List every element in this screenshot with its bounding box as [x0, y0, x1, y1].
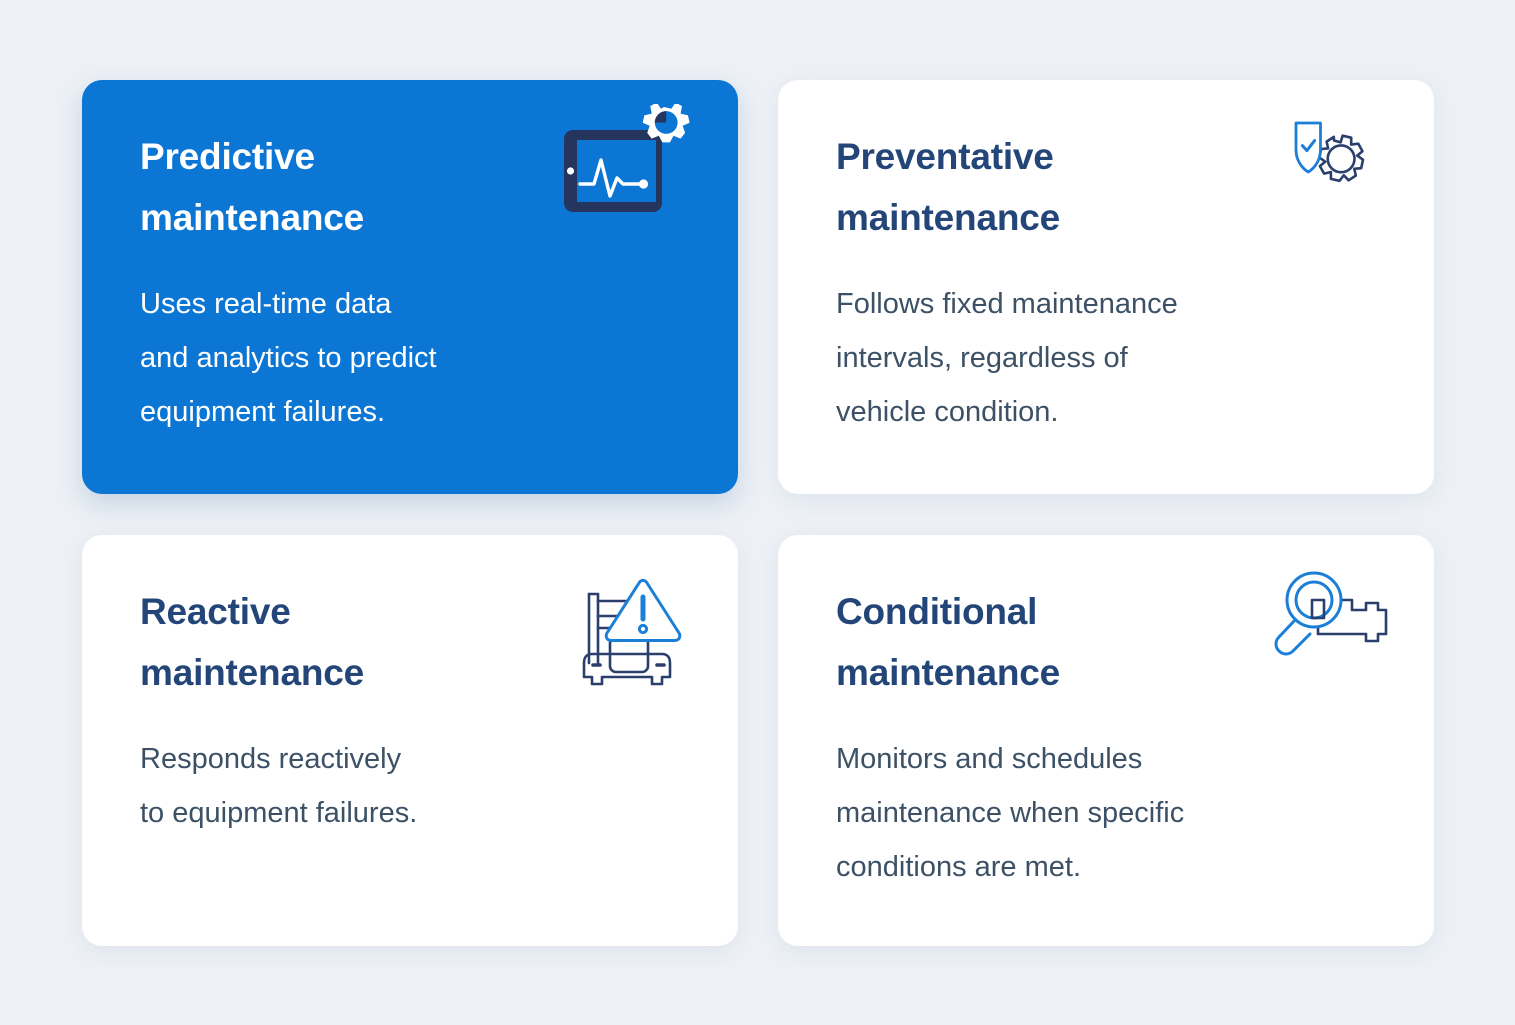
card-description: Monitors and schedules maintenance when …: [836, 732, 1184, 894]
card-reactive-maintenance[interactable]: Reactive maintenance Responds reactively…: [82, 535, 738, 946]
card-grid: Predictive maintenance Uses real-time da…: [82, 80, 1434, 946]
shield-check-gear-icon: [1248, 108, 1398, 238]
card-title: Preventative maintenance: [836, 126, 1060, 248]
tablet-pulse-gear-icon: [560, 104, 710, 234]
card-description: Uses real-time data and analytics to pre…: [140, 277, 437, 439]
card-title: Conditional maintenance: [836, 581, 1060, 703]
card-conditional-maintenance[interactable]: Conditional maintenance Monitors and sch…: [778, 535, 1434, 946]
card-preventative-maintenance[interactable]: Preventative maintenance Follows fixed m…: [778, 80, 1434, 494]
card-title: Predictive maintenance: [140, 126, 364, 248]
card-description: Responds reactively to equipment failure…: [140, 732, 417, 840]
card-title: Reactive maintenance: [140, 581, 364, 703]
truck-warning-triangle-icon: [570, 571, 710, 696]
card-description: Follows fixed maintenance intervals, reg…: [836, 277, 1178, 439]
card-predictive-maintenance[interactable]: Predictive maintenance Uses real-time da…: [82, 80, 738, 494]
maintenance-types-infographic: Predictive maintenance Uses real-time da…: [0, 0, 1515, 1025]
magnifier-engine-icon: [1266, 571, 1406, 696]
